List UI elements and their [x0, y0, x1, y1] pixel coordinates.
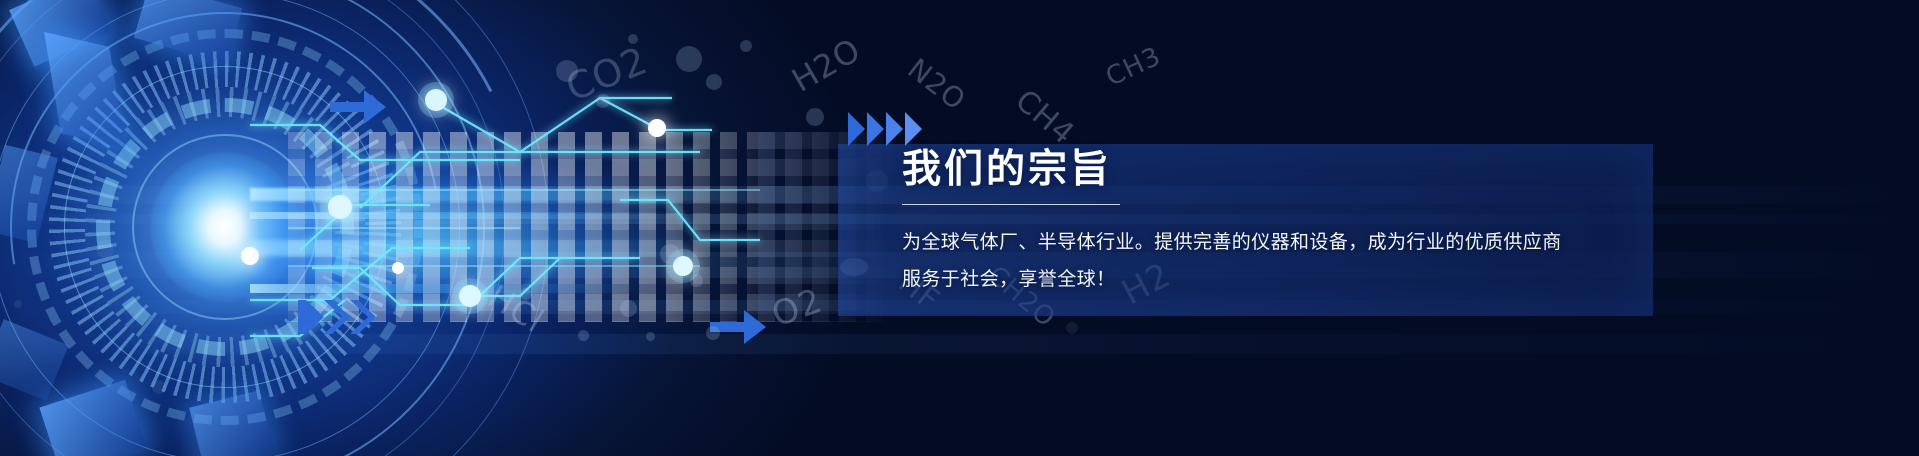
bubble — [96, 240, 114, 258]
chevron-group-icon — [848, 112, 922, 146]
title-divider — [902, 204, 1120, 205]
bubble — [14, 300, 22, 308]
bubble — [690, 274, 703, 287]
description-line: 服务于社会，享誉全球！ — [902, 261, 1662, 298]
bubble — [740, 40, 752, 52]
bubble — [660, 244, 680, 264]
description-line: 为全球气体厂、半导体行业。提供完善的仪器和设备，成为行业的优质供应商 — [902, 224, 1662, 261]
chevron-group-icon — [298, 300, 384, 334]
arrow-right-icon — [330, 90, 386, 124]
arrow-right-icon — [710, 310, 766, 344]
page-title: 我们的宗旨 — [902, 150, 1662, 189]
banner: CO2 H2O N2O CH3 CH4 HCl O2 HF CH2O H2 我们… — [0, 0, 1919, 456]
bubble — [806, 108, 824, 126]
chevron-right-icon — [848, 112, 865, 146]
bubble — [706, 74, 722, 90]
bubble — [620, 300, 637, 317]
bubble — [578, 330, 589, 341]
panel-content: 我们的宗旨 为全球气体厂、半导体行业。提供完善的仪器和设备，成为行业的优质供应商… — [902, 150, 1662, 298]
bubble — [706, 326, 720, 340]
bubble — [152, 380, 166, 394]
chevron-right-icon — [905, 112, 922, 146]
chevron-right-icon — [867, 112, 884, 146]
bubble — [252, 246, 268, 262]
bubble — [646, 332, 655, 341]
panel-description: 为全球气体厂、半导体行业。提供完善的仪器和设备，成为行业的优质供应商 服务于社会… — [902, 224, 1662, 298]
bubble — [1066, 322, 1078, 334]
bubble — [676, 46, 702, 72]
chevron-right-icon — [886, 112, 903, 146]
